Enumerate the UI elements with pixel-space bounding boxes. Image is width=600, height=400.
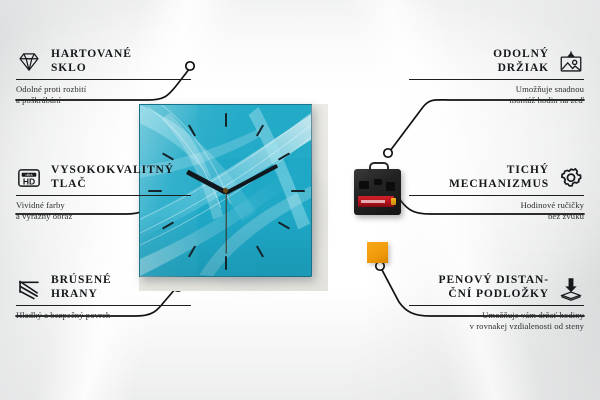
feature-divider bbox=[409, 79, 584, 80]
feature-divider bbox=[16, 79, 191, 80]
feature-description: Umožňuje vám držať hodiny v rovnakej vzd… bbox=[409, 310, 584, 332]
feature-title-line2: SKLO bbox=[51, 62, 132, 76]
feature-title-line2: TLAČ bbox=[51, 178, 174, 192]
diagonal-lines-icon bbox=[16, 275, 42, 301]
feature-titles: PENOVÝ DISTAN- ČNÍ PODLOŽKY bbox=[439, 274, 549, 301]
feature-desc-line1: Hladký a bezpečný povrch bbox=[16, 310, 191, 321]
feature-title-line2: DRŽIAK bbox=[498, 62, 549, 76]
feature-description: Odolné proti rozbití a poškrábání bbox=[16, 84, 191, 106]
feature-title-line2: HRANY bbox=[51, 288, 112, 302]
connector-dot-holder bbox=[384, 149, 392, 157]
feature-title-line1: PENOVÝ DISTAN- bbox=[439, 274, 549, 288]
feature-title-line1: ODOLNÝ bbox=[493, 48, 549, 62]
clock-center-pin bbox=[223, 188, 228, 193]
feature-header: PENOVÝ DISTAN- ČNÍ PODLOŽKY bbox=[409, 274, 584, 301]
connector-line-holder bbox=[390, 100, 584, 151]
diamond-icon bbox=[16, 49, 42, 75]
feature-titles: BRÚSENÉ HRANY bbox=[51, 274, 112, 301]
feature-durable-holder: ODOLNÝ DRŽIAK Umožňuje snadnou montáž ho… bbox=[409, 48, 584, 106]
feature-title-line1: TICHÝ bbox=[507, 164, 549, 178]
feature-title-line2: ČNÍ PODLOŽKY bbox=[448, 288, 549, 302]
foam-spacer-pad bbox=[367, 242, 388, 263]
feature-header: TICHÝ MECHANIZMUS bbox=[409, 164, 584, 191]
mechanism-notch-a bbox=[359, 181, 369, 189]
clock-tick-6 bbox=[225, 256, 227, 270]
feature-high-quality-print: ultra HD VYSOKOKVALITNÝ TLAČ Vividné far… bbox=[16, 164, 191, 222]
feature-description: Vividné farby a výrazný obraz bbox=[16, 200, 191, 222]
feature-divider bbox=[16, 195, 191, 196]
feature-desc-line1: Umožňuje vám držať hodiny bbox=[409, 310, 584, 321]
feature-desc-line2: bez zvuku bbox=[409, 211, 584, 222]
feature-description: Umožňuje snadnou montáž hodin na zeď bbox=[409, 84, 584, 106]
mechanism-hanger-hook bbox=[369, 162, 389, 173]
feature-divider bbox=[409, 195, 584, 196]
clock-tick-12 bbox=[225, 113, 227, 127]
feature-title-line1: HARTOVANÉ bbox=[51, 48, 132, 62]
feature-divider bbox=[409, 305, 584, 306]
feature-desc-line1: Hodinové ručičky bbox=[409, 200, 584, 211]
feature-header: HARTOVANÉ SKLO bbox=[16, 48, 191, 75]
mechanism-battery bbox=[358, 196, 394, 207]
feature-desc-line1: Umožňuje snadnou bbox=[409, 84, 584, 95]
feature-header: ultra HD VYSOKOKVALITNÝ TLAČ bbox=[16, 164, 191, 191]
feature-tempered-glass: HARTOVANÉ SKLO Odolné proti rozbití a po… bbox=[16, 48, 191, 106]
feature-desc-line2: a výrazný obraz bbox=[16, 211, 191, 222]
feature-desc-line2: montáž hodin na zeď bbox=[409, 95, 584, 106]
mechanism-notch-b bbox=[374, 179, 382, 185]
feature-titles: VYSOKOKVALITNÝ TLAČ bbox=[51, 164, 174, 191]
infographic-canvas: HARTOVANÉ SKLO Odolné proti rozbití a po… bbox=[0, 0, 600, 400]
feature-desc-line2: a poškrábání bbox=[16, 95, 191, 106]
feature-divider bbox=[16, 305, 191, 306]
feature-desc-line2: v rovnakej vzdialenosti od steny bbox=[409, 321, 584, 332]
feature-header: BRÚSENÉ HRANY bbox=[16, 274, 191, 301]
feature-description: Hodinové ručičky bez zvuku bbox=[409, 200, 584, 222]
feature-silent-mechanism: TICHÝ MECHANIZMUS Hodinové ručičky bez z… bbox=[409, 164, 584, 222]
feature-desc-line1: Odolné proti rozbití bbox=[16, 84, 191, 95]
feature-title-line2: MECHANIZMUS bbox=[449, 178, 549, 192]
gear-icon bbox=[558, 165, 584, 191]
battery-positive-tip bbox=[391, 198, 396, 205]
ultra-hd-icon-big-label: HD bbox=[23, 176, 35, 186]
battery-label-stripe bbox=[361, 200, 385, 203]
feature-header: ODOLNÝ DRŽIAK bbox=[409, 48, 584, 75]
feature-desc-line1: Vividné farby bbox=[16, 200, 191, 211]
feature-title-line1: VYSOKOKVALITNÝ bbox=[51, 164, 174, 178]
framed-picture-hanger-icon bbox=[558, 49, 584, 75]
mechanism-notch-c bbox=[386, 182, 395, 191]
feature-titles: TICHÝ MECHANIZMUS bbox=[449, 164, 549, 191]
feature-foam-spacers: PENOVÝ DISTAN- ČNÍ PODLOŽKY Umožňuje vám… bbox=[409, 274, 584, 332]
connector-dot-foam bbox=[376, 262, 384, 270]
feature-description: Hladký a bezpečný povrch bbox=[16, 310, 191, 321]
feature-titles: ODOLNÝ DRŽIAK bbox=[493, 48, 549, 75]
clock-second-hand bbox=[225, 192, 226, 254]
clock-tick-3 bbox=[291, 190, 305, 192]
feature-titles: HARTOVANÉ SKLO bbox=[51, 48, 132, 75]
clock-mechanism bbox=[354, 169, 401, 215]
press-down-layers-icon bbox=[558, 275, 584, 301]
feature-title-line1: BRÚSENÉ bbox=[51, 274, 112, 288]
feature-polished-edges: BRÚSENÉ HRANY Hladký a bezpečný povrch bbox=[16, 274, 191, 321]
ultra-hd-icon: ultra HD bbox=[16, 165, 42, 191]
